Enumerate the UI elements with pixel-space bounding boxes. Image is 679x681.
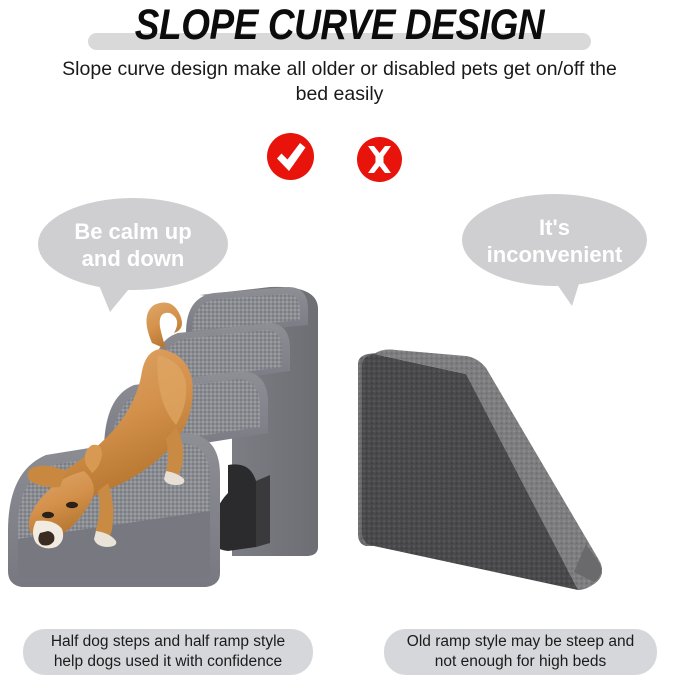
speech-bubble-text: It's inconvenient [462, 214, 647, 268]
foam-ramp-image [338, 340, 679, 610]
caption-left: Half dog steps and half ramp style help … [23, 629, 313, 675]
speech-bubble-text: Be calm up and down [38, 218, 228, 272]
pet-stairs-image [0, 275, 340, 605]
page-subtitle: Slope curve design make all older or dis… [60, 57, 619, 107]
caption-right: Old ramp style may be steep and not enou… [384, 629, 657, 675]
infographic-page: SLOPE CURVE DESIGN Slope curve design ma… [0, 0, 679, 681]
page-title: SLOPE CURVE DESIGN [48, 2, 632, 48]
check-circle-icon [267, 133, 314, 180]
x-circle-icon [357, 137, 402, 182]
speech-bubble-negative: It's inconvenient [462, 194, 647, 286]
